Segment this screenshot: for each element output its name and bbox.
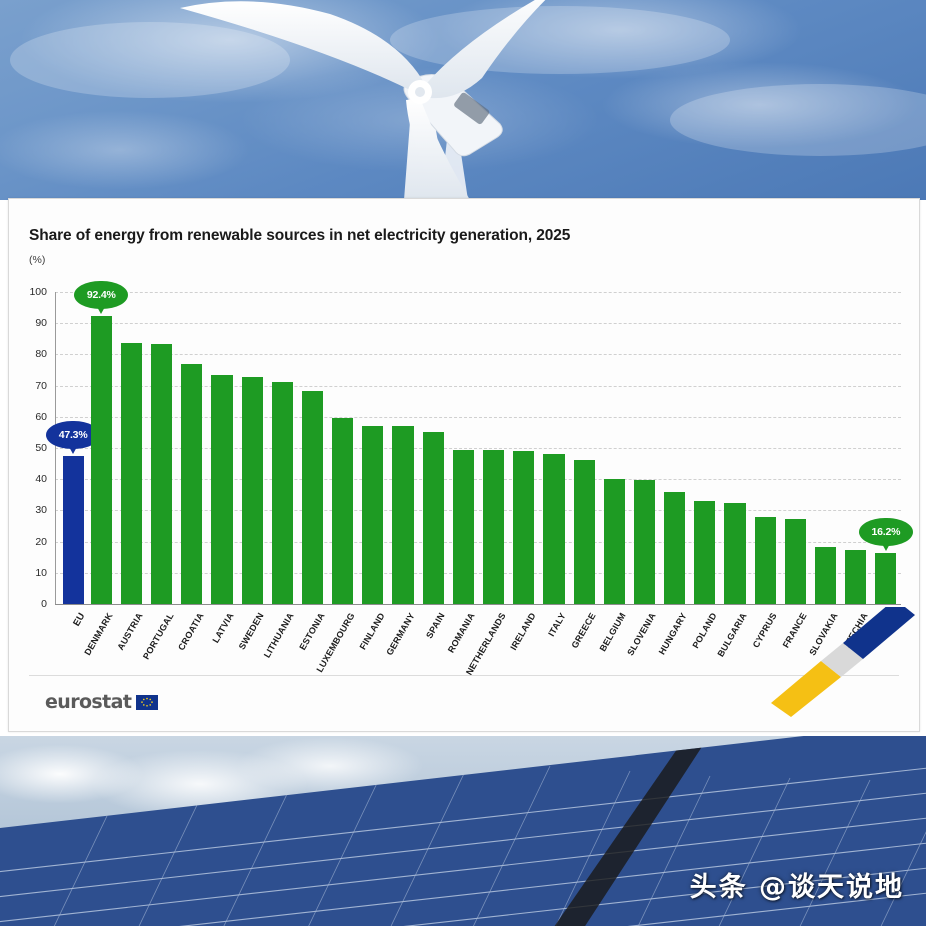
- bar-croatia[interactable]: [181, 292, 202, 604]
- bar-fill: [453, 450, 474, 604]
- bar-czechia[interactable]: [845, 292, 866, 604]
- bar-fill: [815, 547, 836, 604]
- bar-germany[interactable]: [392, 292, 413, 604]
- y-axis-tick-label: 0: [41, 598, 47, 610]
- bar-austria[interactable]: [121, 292, 142, 604]
- bar-romania[interactable]: [453, 292, 474, 604]
- bar-poland[interactable]: [694, 292, 715, 604]
- bar-fill: [332, 418, 353, 604]
- x-axis-tick-label: IRELAND: [508, 611, 537, 652]
- bar-fill: [785, 519, 806, 604]
- x-axis-tick-label: AUSTRIA: [116, 611, 145, 652]
- bar-fill: [724, 503, 745, 604]
- wind-turbine-graphic: [0, 0, 926, 200]
- callout-value: 47.3%: [59, 429, 88, 441]
- bar-cyprus[interactable]: [755, 292, 776, 604]
- watermark-text: 头条 @谈天说地: [690, 865, 904, 904]
- callout-tail: [68, 445, 78, 454]
- gridline: [55, 604, 901, 606]
- y-axis-tick-label: 30: [35, 504, 47, 516]
- bar-greece[interactable]: [574, 292, 595, 604]
- y-axis-tick-label: 70: [35, 380, 47, 392]
- y-axis-tick-label: 20: [35, 536, 47, 548]
- y-axis-tick-label: 40: [35, 473, 47, 485]
- bar-fill: [91, 316, 112, 604]
- bar-italy[interactable]: [543, 292, 564, 604]
- bar-fill: [362, 426, 383, 604]
- bar-sweden[interactable]: [242, 292, 263, 604]
- bar-fill: [181, 364, 202, 604]
- callout-tail: [96, 305, 106, 314]
- callout-value: 16.2%: [872, 526, 901, 538]
- x-axis-tick-label: SPAIN: [424, 611, 447, 640]
- x-axis-tick-label: SLOVENIA: [626, 611, 658, 657]
- bar-fill: [664, 492, 685, 604]
- bar-fill: [634, 480, 655, 604]
- bar-bulgaria[interactable]: [724, 292, 745, 604]
- x-axis-tick-label: GERMANY: [384, 611, 416, 657]
- bar-lithuania[interactable]: [272, 292, 293, 604]
- eurostat-wordmark: eurostat: [45, 691, 131, 713]
- bar-france[interactable]: [785, 292, 806, 604]
- bar-fill: [63, 456, 84, 604]
- x-axis-tick-label: BULGARIA: [715, 611, 748, 659]
- bar-finland[interactable]: [362, 292, 383, 604]
- bar-belgium[interactable]: [604, 292, 625, 604]
- x-axis-tick-label: DENMARK: [83, 611, 115, 657]
- bar-estonia[interactable]: [302, 292, 323, 604]
- solar-panel-photo: 头条 @谈天说地: [0, 736, 926, 926]
- x-axis-tick-label: EU: [71, 611, 87, 628]
- bar-luxembourg[interactable]: [332, 292, 353, 604]
- infographic-page: Share of energy from renewable sources i…: [0, 0, 926, 926]
- eu-flag-icon: [136, 695, 158, 710]
- bar-fill: [302, 391, 323, 604]
- bar-denmark[interactable]: [91, 292, 112, 604]
- y-axis-tick-label: 80: [35, 348, 47, 360]
- value-callout-malta: 16.2%: [859, 518, 913, 552]
- bar-fill: [845, 550, 866, 604]
- y-axis-unit-label: (%): [29, 254, 45, 266]
- bar-fill: [423, 432, 444, 604]
- bar-fill: [151, 344, 172, 604]
- bar-slovenia[interactable]: [634, 292, 655, 604]
- bar-fill: [755, 517, 776, 604]
- bar-fill: [392, 426, 413, 604]
- x-axis-tick-label: ESTONIA: [297, 611, 326, 652]
- bar-fill: [543, 454, 564, 604]
- bar-fill: [875, 553, 896, 604]
- x-axis-tick-label: PORTUGAL: [141, 611, 176, 661]
- bar-fill: [574, 460, 595, 604]
- callout-tail: [881, 542, 891, 551]
- x-axis-tick-label: LITHUANIA: [262, 611, 296, 660]
- bar-fill: [604, 479, 625, 604]
- x-axis-tick-label: POLAND: [690, 611, 718, 650]
- y-axis-tick-label: 100: [29, 286, 47, 298]
- bar-portugal[interactable]: [151, 292, 172, 604]
- x-axis-tick-label: HUNGARY: [656, 611, 688, 656]
- x-axis-tick-label: ITALY: [546, 611, 567, 638]
- bar-fill: [483, 450, 504, 604]
- chart-title: Share of energy from renewable sources i…: [29, 227, 570, 245]
- bar-ireland[interactable]: [513, 292, 534, 604]
- wind-turbine-photo: [0, 0, 926, 200]
- bar-fill: [211, 375, 232, 604]
- x-axis-tick-label: LATVIA: [210, 611, 235, 645]
- x-axis-tick-label: FINLAND: [357, 611, 386, 651]
- bar-malta[interactable]: [875, 292, 896, 604]
- x-axis-tick-label: ROMANIA: [446, 611, 477, 654]
- bar-fill: [272, 382, 293, 604]
- bar-latvia[interactable]: [211, 292, 232, 604]
- bar-series: 47.3%92.4%16.2%: [56, 292, 901, 604]
- x-axis-tick-label: CROATIA: [176, 611, 206, 652]
- bar-spain[interactable]: [423, 292, 444, 604]
- eurostat-chevron-decoration: [763, 607, 920, 717]
- x-axis-tick-label: BELGIUM: [598, 611, 628, 653]
- x-axis-tick-label: SWEDEN: [237, 611, 266, 651]
- bar-hungary[interactable]: [664, 292, 685, 604]
- callout-value: 92.4%: [87, 289, 116, 301]
- eurostat-logo: eurostat: [45, 691, 158, 713]
- x-axis-tick-label: GREECE: [570, 611, 598, 650]
- y-axis-tick-label: 90: [35, 317, 47, 329]
- bar-fill: [513, 451, 534, 604]
- bar-slovakia[interactable]: [815, 292, 836, 604]
- chart-card: Share of energy from renewable sources i…: [8, 198, 920, 732]
- bar-netherlands[interactable]: [483, 292, 504, 604]
- bar-fill: [242, 377, 263, 604]
- y-axis-tick-label: 10: [35, 567, 47, 579]
- bar-fill: [694, 501, 715, 604]
- plot-area: 47.3%92.4%16.2%: [55, 287, 901, 609]
- bar-fill: [121, 343, 142, 604]
